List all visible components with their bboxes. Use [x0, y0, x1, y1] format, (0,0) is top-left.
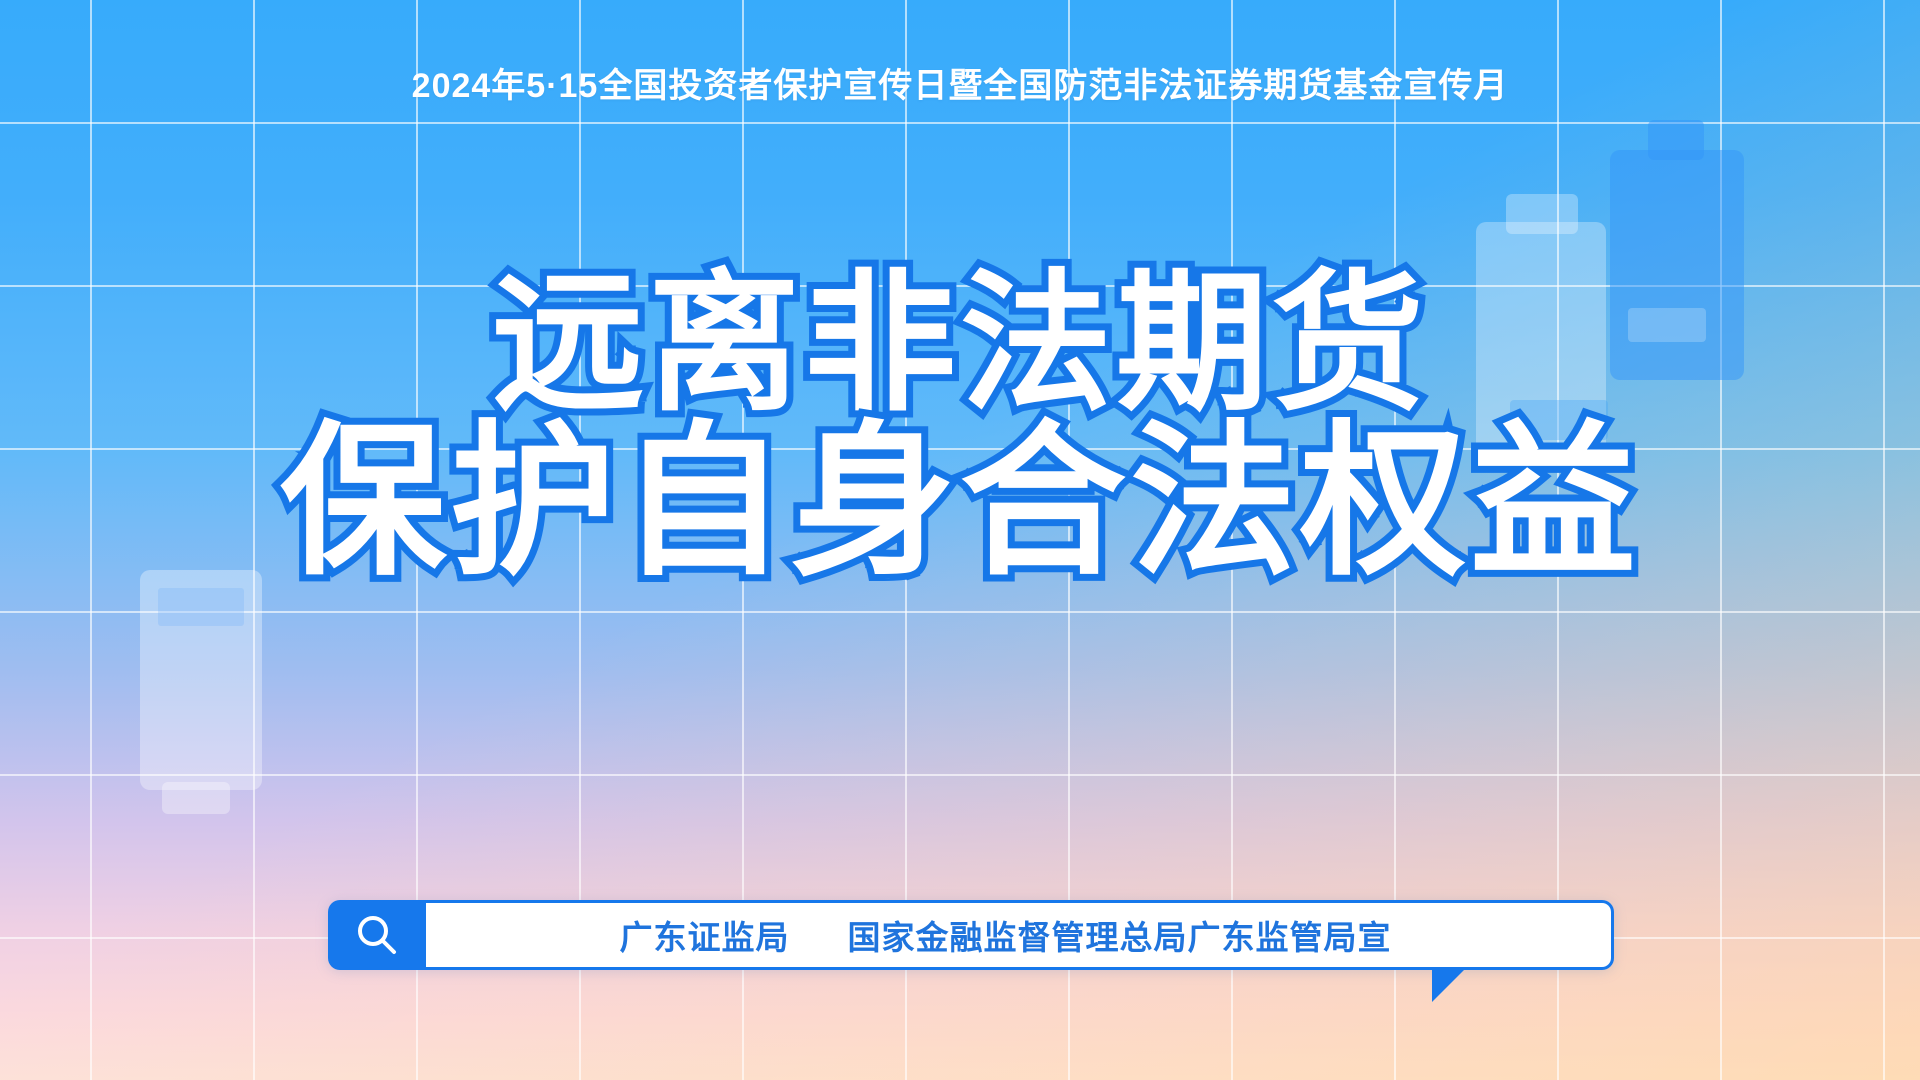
signature-org-2: 国家金融监督管理总局广东监管局宣 [848, 911, 1392, 959]
signature-org-1: 广东证监局 [620, 911, 790, 959]
headline-line-2: 保护自身合法权益 [0, 420, 1920, 586]
signature-bar: 广东证监局 国家金融监督管理总局广东监管局宣 [328, 900, 1614, 970]
candlestick-body-left [140, 570, 262, 790]
candlestick-wick-right-light [1506, 194, 1578, 234]
candlestick-wick-left [162, 782, 230, 814]
signature-plate: 广东证监局 国家金融监督管理总局广东监管局宣 [426, 900, 1614, 970]
poster-canvas: 2024年5·15全国投资者保护宣传日暨全国防范非法证券期货基金宣传月 远离非法… [0, 0, 1920, 1080]
headline-line-1: 远离非法期货 [0, 268, 1920, 420]
signature-tail-pointer [1432, 968, 1466, 1002]
candlestick-wick-right-dark [1648, 120, 1704, 160]
search-icon-badge[interactable] [328, 900, 426, 970]
candlestick-accent-left [158, 588, 244, 626]
campaign-header-text: 2024年5·15全国投资者保护宣传日暨全国防范非法证券期货基金宣传月 [0, 58, 1920, 107]
search-icon [354, 912, 400, 958]
